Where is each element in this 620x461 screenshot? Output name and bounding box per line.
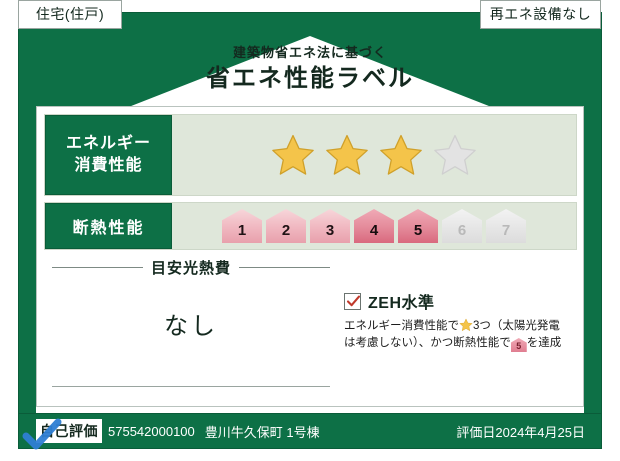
energy-performance-label: 住宅(住戸) 再エネ設備なし 建築物省エネ法に基づく 省エネ性能ラベル エネルギ… — [0, 0, 620, 461]
tab-renewable-energy-label: 再エネ設備なし — [490, 6, 592, 22]
zeh-description: エネルギー消費性能で3つ（太陽光発電 は考慮しない）、かつ断熱性能で5を達成 — [344, 318, 572, 352]
zeh-checkbox[interactable] — [344, 293, 361, 310]
label-lower-area: 目安光熱費 なし ZEH水準 エネルギー消費性能で3つ（太陽光発電 — [44, 257, 577, 401]
insulation-rank-number: 5 — [414, 222, 422, 239]
energy-performance-label-line2: 消費性能 — [74, 155, 142, 177]
utility-cost-header: 目安光熱費 — [52, 257, 330, 278]
utility-cost-value: なし — [52, 306, 330, 341]
utility-cost-title: 目安光熱費 — [151, 257, 231, 278]
star-icon-empty — [433, 133, 477, 177]
insulation-performance-label-text: 断熱性能 — [72, 214, 144, 238]
rule-right — [239, 267, 330, 268]
insulation-rank-number: 3 — [326, 222, 334, 239]
title-subtitle: 建築物省エネ法に基づく — [36, 44, 584, 62]
zeh-title: ZEH水準 — [368, 289, 435, 313]
check-icon — [346, 294, 361, 309]
insulation-badge-inline-number: 5 — [516, 341, 521, 351]
label-content-panel: エネルギー 消費性能 断熱性能 1234567 目安光熱費 なし — [36, 106, 584, 407]
energy-performance-row: エネルギー 消費性能 — [44, 114, 577, 196]
label-id: 575542000100 — [108, 424, 195, 439]
insulation-rank-number: 4 — [370, 222, 378, 239]
insulation-rank-badge: 2 — [266, 209, 306, 243]
utility-cost-bottom-rule — [52, 386, 330, 387]
page-title: 省エネ性能ラベル — [36, 64, 584, 94]
insulation-rank-number: 6 — [458, 222, 466, 239]
star-icon-filled — [271, 133, 315, 177]
star-icon-filled — [325, 133, 369, 177]
tab-renewable-energy: 再エネ設備なし — [480, 0, 601, 29]
label-footer: 自己評価 575542000100 豊川牛久保町 1号棟 評価日2024年4月2… — [18, 413, 602, 449]
insulation-rank-number: 7 — [502, 222, 510, 239]
energy-performance-label-line1: エネルギー — [66, 133, 151, 155]
tab-building-type: 住宅(住戸) — [18, 0, 122, 29]
zeh-header: ZEH水準 — [344, 289, 572, 313]
insulation-rank-badge: 1 — [222, 209, 262, 243]
zeh-desc-line1-b: 3つ（太陽光発電 — [473, 320, 560, 332]
insulation-rank-badge: 6 — [442, 209, 482, 243]
label-title-block: 建築物省エネ法に基づく 省エネ性能ラベル — [36, 44, 584, 94]
zeh-desc-line2-a: は考慮しない）、かつ断熱性能で — [344, 337, 511, 349]
insulation-rank-number: 2 — [282, 222, 290, 239]
energy-star-rating — [172, 115, 576, 195]
insulation-rank-badge: 5 — [398, 209, 438, 243]
tab-building-type-label: 住宅(住戸) — [36, 6, 104, 22]
insulation-rank-badge: 4 — [354, 209, 394, 243]
evaluation-date: 評価日2024年4月25日 — [456, 422, 585, 441]
property-address: 豊川牛久保町 1号棟 — [205, 422, 320, 441]
insulation-rank-badge: 3 — [310, 209, 350, 243]
insulation-performance-row: 断熱性能 1234567 — [44, 202, 577, 250]
zeh-desc-line1-a: エネルギー消費性能で — [344, 320, 459, 332]
star-icon-inline — [459, 318, 473, 332]
zeh-block: ZEH水準 エネルギー消費性能で3つ（太陽光発電 は考慮しない）、かつ断熱性能で… — [344, 289, 572, 352]
insulation-performance-label: 断熱性能 — [45, 203, 172, 249]
insulation-rank-number: 1 — [238, 222, 246, 239]
evaluation-type-chip: 自己評価 — [36, 419, 102, 443]
star-icon-filled — [379, 133, 423, 177]
zeh-desc-line2-b: を達成 — [527, 337, 562, 349]
energy-performance-label: エネルギー 消費性能 — [45, 115, 172, 195]
utility-cost-block: 目安光熱費 なし — [52, 257, 330, 401]
rule-left — [52, 267, 143, 268]
insulation-rank-scale: 1234567 — [172, 203, 576, 249]
insulation-rank-badge: 7 — [486, 209, 526, 243]
insulation-badge-icon-inline: 5 — [511, 338, 527, 352]
